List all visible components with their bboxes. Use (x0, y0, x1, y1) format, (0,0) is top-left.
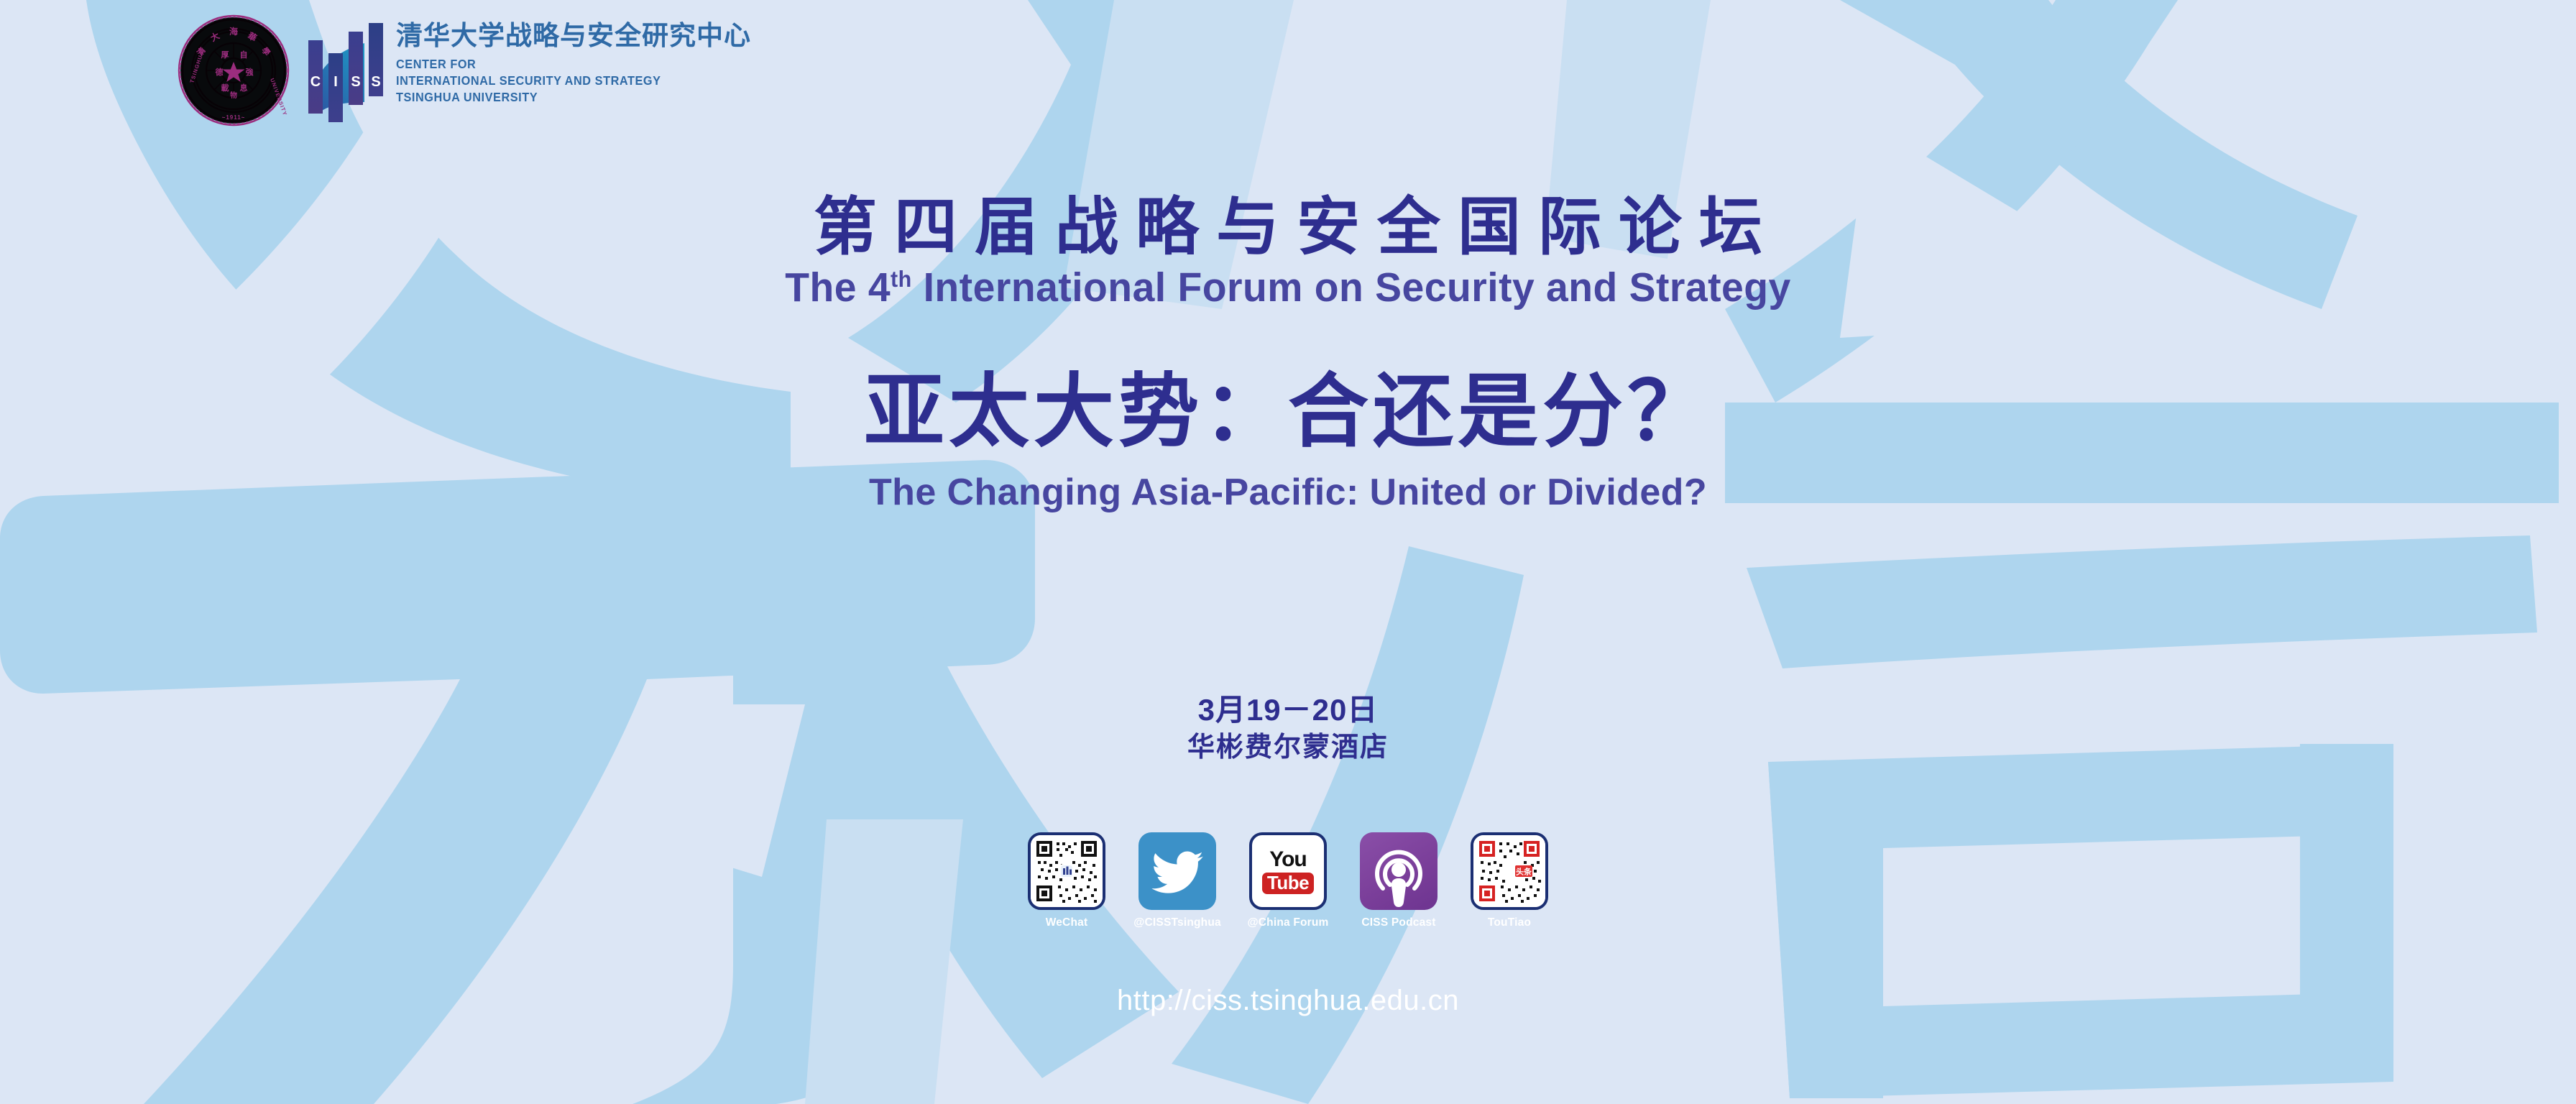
svg-text:C: C (310, 74, 321, 90)
org-name-en: CENTER FOR INTERNATIONAL SECURITY AND ST… (396, 56, 726, 106)
forum-theme-block: 亚太大势：合还是分？ The Changing Asia-Pacific: Un… (0, 367, 2576, 514)
wechat-qr-icon[interactable] (1028, 832, 1105, 910)
svg-text:息: 息 (240, 83, 248, 93)
seal-svg: 海 大 華 清 學 厚 自 德 強 載 息 物 TSINGHUA UNIVERS… (176, 13, 291, 128)
twitter-bird-svg (1138, 832, 1216, 910)
event-details: 3月19－20日 华彬费尔蒙酒店 (0, 692, 2576, 765)
ciss-logo-icon: C I S S (304, 22, 383, 122)
toutiao-qr-svg: 头条 (1473, 835, 1545, 907)
org-name-block: 清华大学战略与安全研究中心 CENTER FOR INTERNATIONAL S… (396, 23, 751, 106)
social-label-toutiao: TouTiao (1488, 916, 1531, 929)
event-venue: 华彬费尔蒙酒店 (0, 731, 2576, 765)
podcast-glyph-svg (1360, 832, 1437, 910)
org-name-en-line1: CENTER FOR (396, 56, 726, 73)
social-item-twitter[interactable]: @CISSTsinghua (1136, 832, 1219, 929)
podcast-icon[interactable] (1360, 832, 1437, 910)
header-logos: 海 大 華 清 學 厚 自 德 強 載 息 物 TSINGHUA UNIVERS… (176, 13, 751, 128)
youtube-tube-text: Tube (1262, 873, 1314, 894)
org-name-en-line3: TSINGHUA UNIVERSITY (396, 89, 726, 106)
wechat-qr-svg (1031, 835, 1103, 907)
svg-text:德: 德 (215, 67, 224, 77)
svg-text:載: 載 (221, 83, 229, 93)
svg-text:物: 物 (230, 91, 237, 100)
website-url[interactable]: http://ciss.tsinghua.edu.cn (0, 985, 2576, 1017)
poster-canvas: 海 大 華 清 學 厚 自 德 強 載 息 物 TSINGHUA UNIVERS… (0, 0, 2576, 1104)
forum-title-en-prefix: The 4 (785, 264, 891, 310)
svg-text:自: 自 (240, 50, 248, 60)
social-label-youtube: @China Forum (1247, 916, 1328, 929)
youtube-icon[interactable]: You Tube (1249, 832, 1327, 910)
theme-cn: 亚太大势：合还是分？ (0, 367, 2576, 456)
forum-title-block: 第四届战略与安全国际论坛 The 4th International Forum… (0, 193, 2576, 310)
youtube-you-text: You (1269, 849, 1306, 870)
social-label-wechat: WeChat (1046, 916, 1088, 929)
social-label-podcast: CISS Podcast (1361, 916, 1435, 929)
toutiao-qr-icon[interactable]: 头条 (1471, 832, 1548, 910)
social-links-row: WeChat @CISSTsinghua You Tube @China For… (0, 832, 2576, 929)
svg-text:I: I (333, 74, 338, 90)
social-item-youtube[interactable]: You Tube @China Forum (1246, 832, 1330, 929)
org-name-en-line2: INTERNATIONAL SECURITY AND STRATEGY (396, 73, 726, 89)
ciss-logo-svg: C I S S (304, 22, 383, 122)
youtube-wordmark: You Tube (1262, 849, 1314, 894)
svg-text:厚: 厚 (221, 50, 229, 60)
org-name-cn: 清华大学战略与安全研究中心 (396, 23, 751, 50)
forum-title-en-ordinal: th (891, 267, 912, 292)
twitter-icon[interactable] (1138, 832, 1216, 910)
toutiao-badge-text: 头条 (1516, 867, 1532, 877)
social-item-toutiao[interactable]: 头条 TouTiao (1468, 832, 1551, 929)
svg-text:S: S (371, 74, 380, 90)
theme-en: The Changing Asia-Pacific: United or Div… (0, 472, 2576, 513)
forum-title-en-rest: International Forum on Security and Stra… (912, 264, 1791, 310)
background-watermark (0, 0, 2576, 1104)
social-item-wechat[interactable]: WeChat (1025, 832, 1108, 929)
svg-text:S: S (351, 74, 360, 90)
background-calligraphy-svg (0, 0, 2576, 1104)
svg-text:海: 海 (229, 26, 238, 37)
social-item-podcast[interactable]: CISS Podcast (1357, 832, 1440, 929)
event-date: 3月19－20日 (0, 692, 2576, 728)
svg-text:強: 強 (246, 67, 254, 77)
social-label-twitter: @CISSTsinghua (1133, 916, 1221, 929)
tsinghua-seal-icon: 海 大 華 清 學 厚 自 德 強 載 息 物 TSINGHUA UNIVERS… (176, 13, 291, 128)
svg-text:~1911~: ~1911~ (222, 114, 246, 121)
forum-title-en: The 4th International Forum on Security … (39, 265, 2537, 310)
forum-title-cn: 第四届战略与安全国际论坛 (0, 193, 2576, 261)
